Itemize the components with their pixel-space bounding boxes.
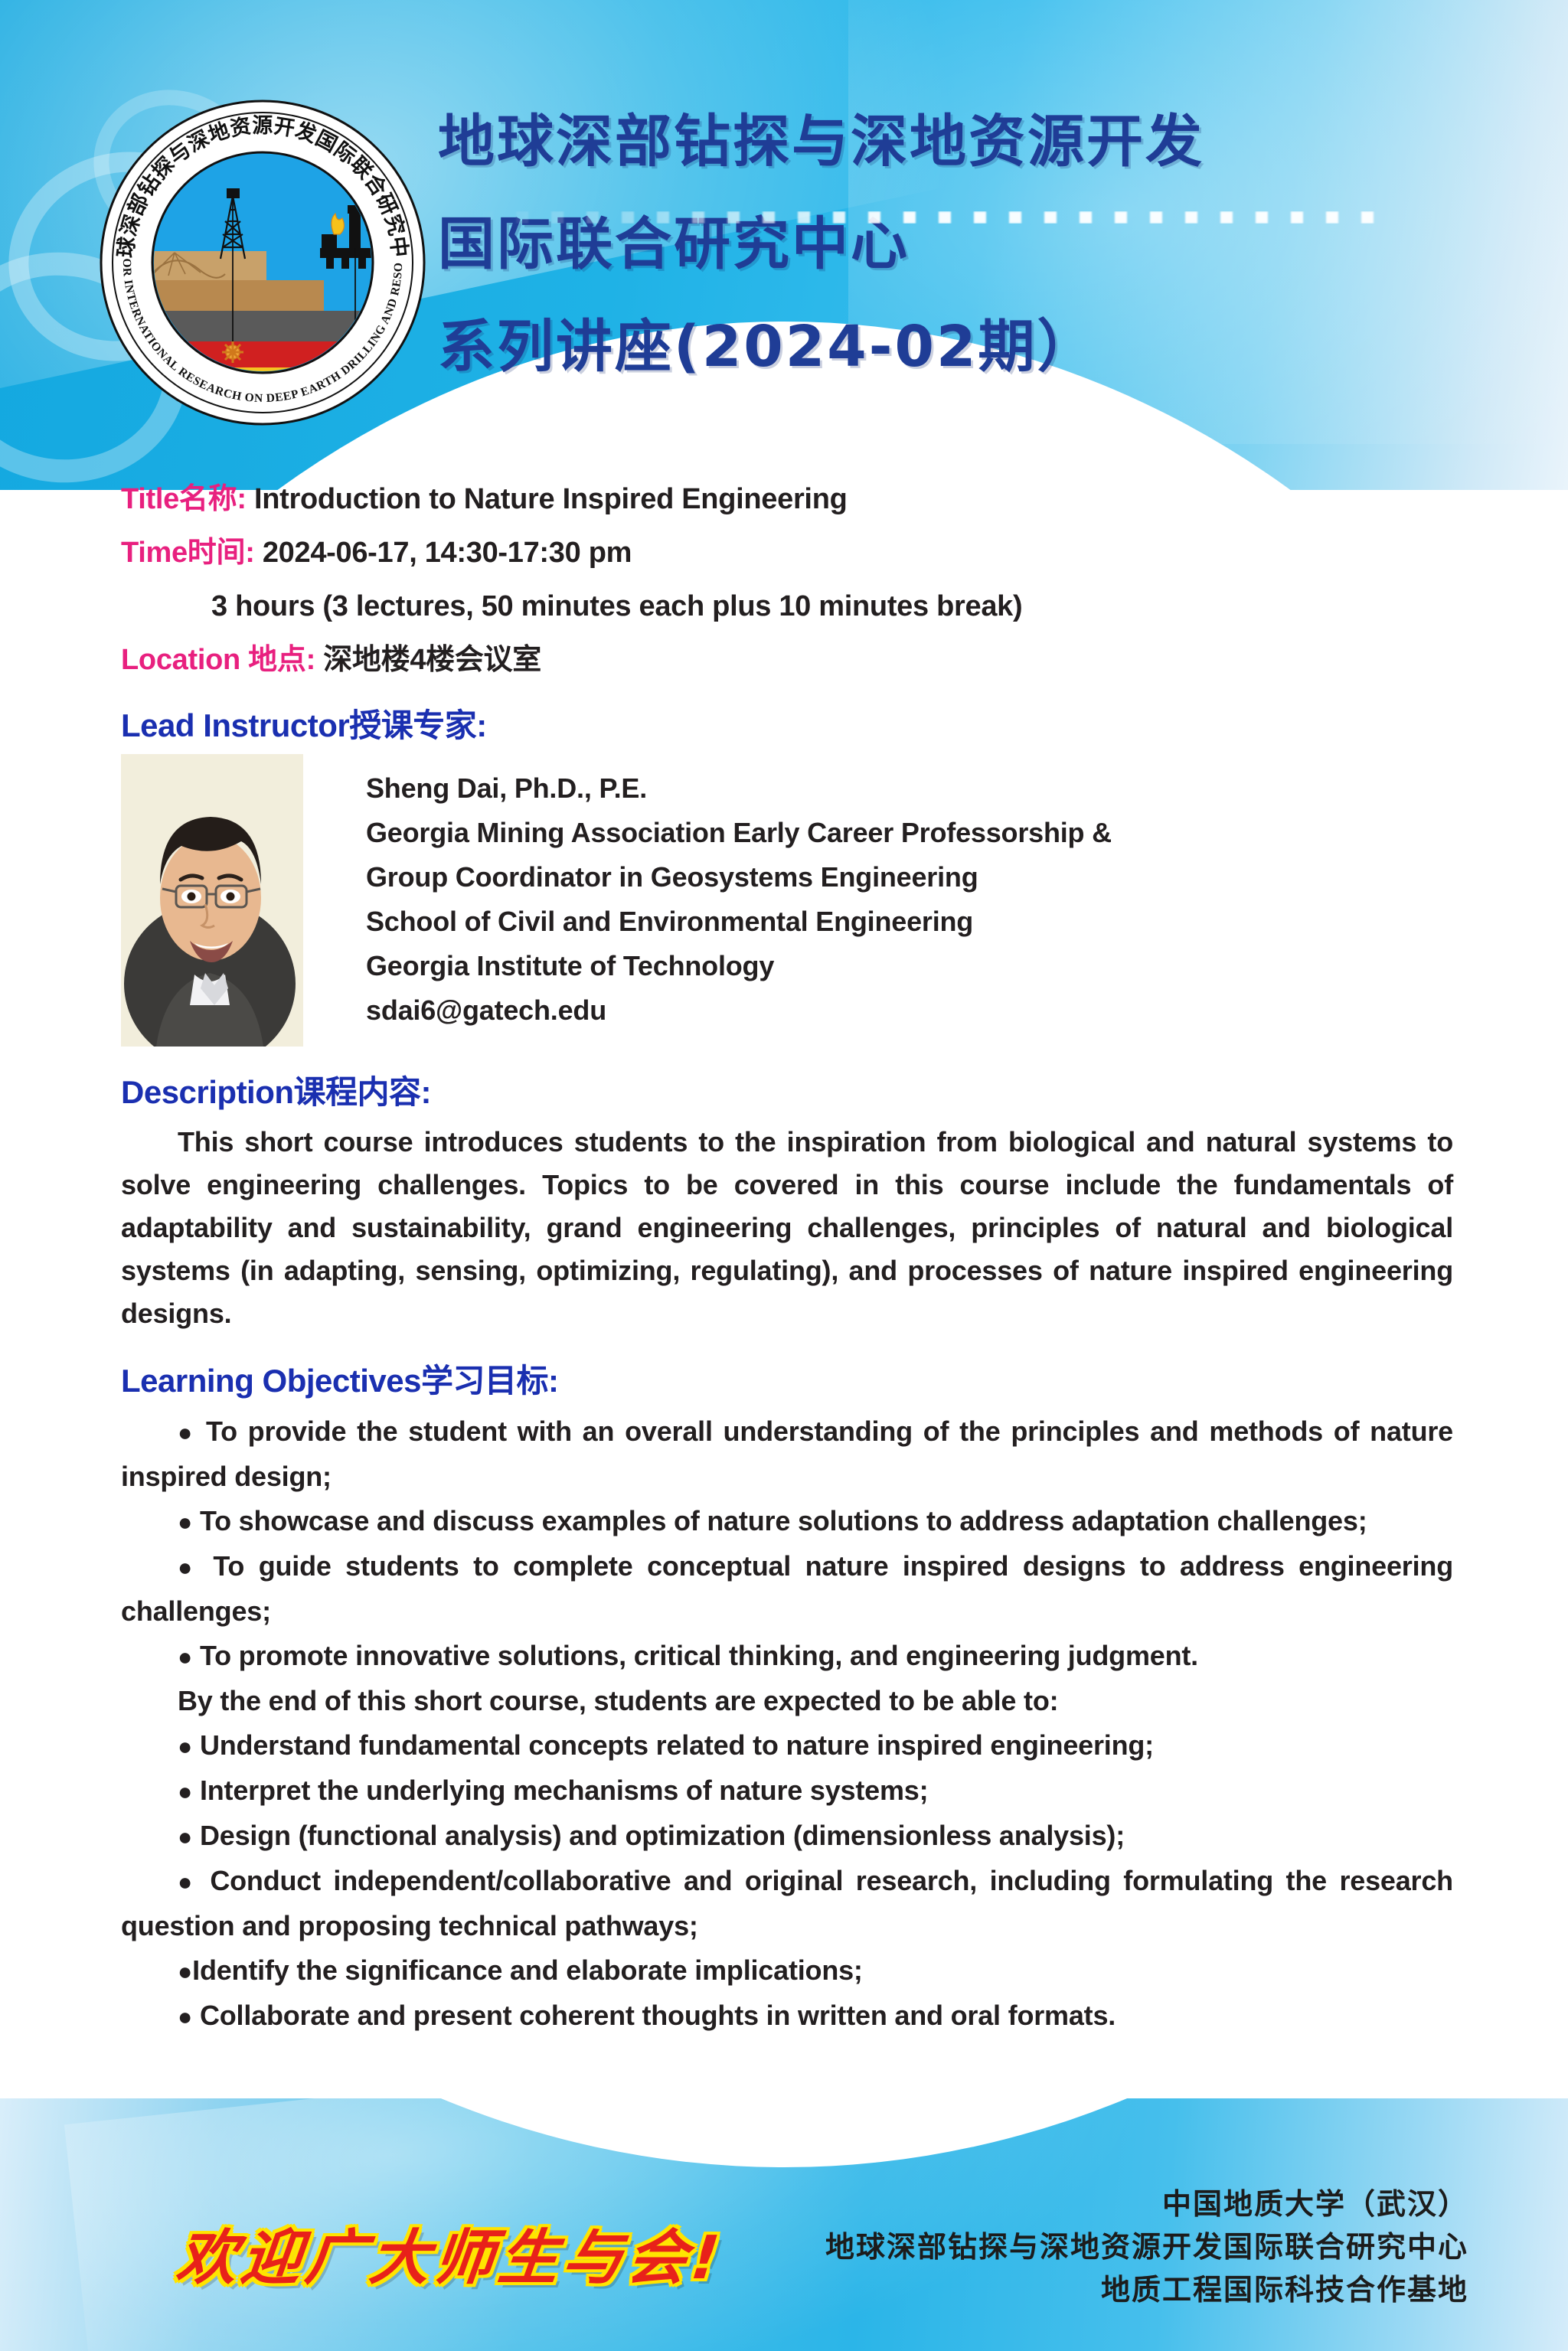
bullet-icon: ● [178, 1732, 192, 1760]
emblem-icon: 地球深部钻探与深地资源开发国际联合研究中心 NATIONAL CENTER FO… [98, 98, 427, 427]
bullet-icon: ● [178, 1419, 195, 1446]
title-label: Title名称: [121, 483, 247, 515]
instructor-heading: Lead Instructor授课专家: [121, 700, 1453, 746]
outcome-text: Conduct independent/collaborative and or… [121, 1865, 1453, 1941]
bullet-icon: ● [178, 2003, 192, 2030]
outcomes-lead: By the end of this short course, student… [121, 1679, 1453, 1723]
outcome-item: ●Identify the significance and elaborate… [121, 1948, 1453, 1993]
footer-org-line: 地球深部钻探与深地资源开发国际联合研究中心 [825, 2225, 1468, 2268]
time-value: 2024-06-17, 14:30-17:30 pm [263, 537, 632, 569]
bullet-icon: ● [178, 1823, 192, 1850]
meta-location-row: Location 地点: 深地楼4楼会议室 [121, 640, 1453, 680]
meta-title-row: Title名称: Introduction to Nature Inspired… [121, 479, 1453, 519]
description-body: This short course introduces students to… [121, 1121, 1453, 1335]
description-heading: Description课程内容: [121, 1066, 1453, 1113]
center-logo: 地球深部钻探与深地资源开发国际联合研究中心 NATIONAL CENTER FO… [98, 98, 427, 427]
location-value: 深地楼4楼会议室 [323, 644, 541, 676]
location-label: Location 地点: [121, 644, 315, 676]
instructor-details: Sheng Dai, Ph.D., P.E. Georgia Mining As… [366, 754, 1112, 1033]
bullet-icon: ● [178, 1958, 192, 1985]
bullet-icon: ● [178, 1778, 192, 1805]
outcome-item: ● Design (functional analysis) and optim… [121, 1814, 1453, 1859]
outcome-item: ● Interpret the underlying mechanisms of… [121, 1768, 1453, 1814]
dashed-divider [481, 211, 1384, 224]
objective-item: ● To showcase and discuss examples of na… [121, 1499, 1453, 1544]
outcome-text: Interpret the underlying mechanisms of n… [200, 1775, 928, 1806]
instructor-block: Sheng Dai, Ph.D., P.E. Georgia Mining As… [121, 754, 1453, 1047]
instructor-line: Georgia Mining Association Early Career … [366, 811, 1112, 855]
instructor-line: Georgia Institute of Technology [366, 944, 1112, 988]
meta-time-row: Time时间: 2024-06-17, 14:30-17:30 pm [121, 533, 1453, 573]
poster-body: Title名称: Introduction to Nature Inspired… [121, 479, 1453, 2039]
outcome-item: ● Collaborate and present coherent thoug… [121, 1993, 1453, 2039]
objective-text: To promote innovative solutions, critica… [200, 1640, 1198, 1671]
meta-duration-row: 3 hours (3 lectures, 50 minutes each plu… [121, 586, 1453, 626]
objective-text: To showcase and discuss examples of natu… [200, 1505, 1367, 1536]
objective-item: ● To promote innovative solutions, criti… [121, 1634, 1453, 1679]
outcome-text: Collaborate and present coherent thought… [200, 2000, 1116, 2031]
duration-value: 3 hours (3 lectures, 50 minutes each plu… [211, 590, 1022, 622]
portrait-image [121, 754, 303, 1047]
objective-item: ● To provide the student with an overall… [121, 1409, 1453, 1499]
outcome-text: Understand fundamental concepts related … [200, 1729, 1154, 1761]
poster-root: 地球深部钻探与深地资源开发国际联合研究中心 NATIONAL CENTER FO… [0, 0, 1568, 2351]
objectives-heading: Learning Objectives学习目标: [121, 1355, 1453, 1402]
poster-title: 地球深部钻探与深地资源开发 国际联合研究中心 系列讲座(2024-02期） [438, 106, 1525, 383]
bullet-icon: ● [178, 1508, 192, 1536]
instructor-portrait [121, 754, 303, 1047]
footer-org-line: 地质工程国际科技合作基地 [825, 2268, 1468, 2311]
outcome-item: ● Understand fundamental concepts relate… [121, 1723, 1453, 1768]
title-value: Introduction to Nature Inspired Engineer… [254, 483, 848, 515]
instructor-line: Group Coordinator in Geosystems Engineer… [366, 855, 1112, 900]
outcome-text: Identify the significance and elaborate … [192, 1954, 863, 1986]
bullet-icon: ● [178, 1643, 192, 1670]
footer-org-line: 中国地质大学（武汉） [825, 2183, 1468, 2225]
bullet-icon: ● [178, 1868, 198, 1895]
instructor-email: sdai6@gatech.edu [366, 988, 1112, 1033]
objective-item: ● To guide students to complete conceptu… [121, 1544, 1453, 1634]
instructor-line: School of Civil and Environmental Engine… [366, 900, 1112, 944]
objective-text: To guide students to complete conceptual… [121, 1550, 1453, 1627]
bullet-icon: ● [178, 1553, 199, 1581]
objective-text: To provide the student with an overall u… [121, 1415, 1453, 1492]
time-label: Time时间: [121, 537, 255, 569]
outcome-text: Design (functional analysis) and optimiz… [200, 1820, 1125, 1851]
title-line-1: 地球深部钻探与深地资源开发 [438, 106, 1525, 178]
instructor-line: Sheng Dai, Ph.D., P.E. [366, 766, 1112, 811]
title-line-3: 系列讲座(2024-02期） [438, 311, 1525, 383]
footer-organizations: 中国地质大学（武汉） 地球深部钻探与深地资源开发国际联合研究中心 地质工程国际科… [825, 2183, 1468, 2311]
outcome-item: ● Conduct independent/collaborative and … [121, 1859, 1453, 1948]
welcome-slogan: 欢迎广大师生与会! [173, 2210, 728, 2296]
